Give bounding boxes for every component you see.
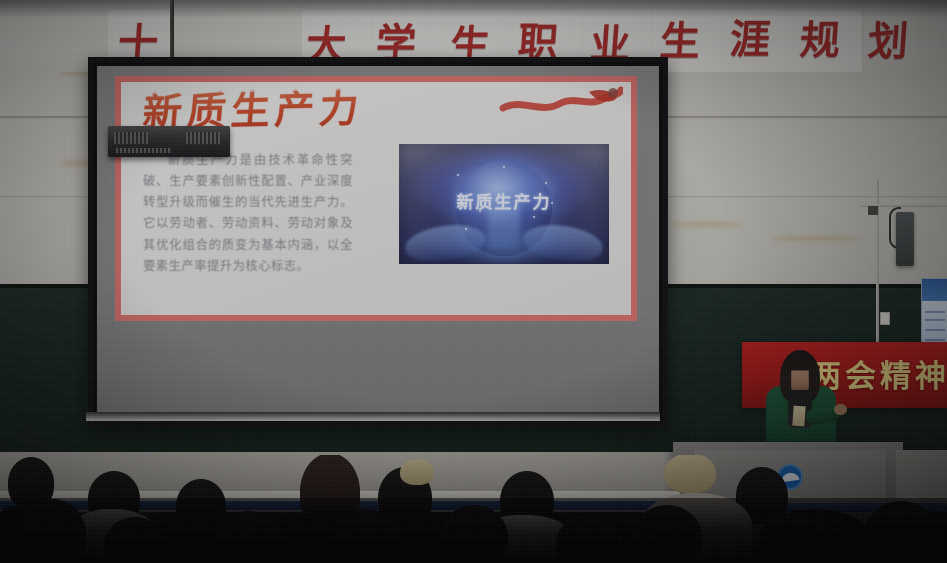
poster-text-line bbox=[925, 319, 945, 321]
banner-char: 规 bbox=[799, 21, 842, 61]
ceiling-projector bbox=[108, 126, 230, 157]
slide-image-caption: 新质生产力 bbox=[399, 188, 609, 213]
presentation-slide: 新质生产力 新质生产力是由技术革命性突破、生产要素创新性配置、产业深度转型升级而… bbox=[115, 76, 637, 321]
red-ribbon-decoration-icon bbox=[497, 86, 623, 120]
student-audience bbox=[0, 455, 947, 563]
hand-graphic bbox=[521, 221, 605, 264]
ceiling-shadow bbox=[0, 0, 947, 18]
spark-dot bbox=[457, 174, 459, 176]
banner-char: 涯 bbox=[729, 20, 772, 60]
classroom-photo-scene: 十 大 学 生 职 业 生 涯 规 划 新质生产力 bbox=[0, 0, 947, 563]
light-beam-graphic bbox=[488, 206, 520, 264]
hand-graphic bbox=[403, 221, 487, 264]
slide-embedded-image: 新质生产力 bbox=[399, 144, 609, 264]
student-head bbox=[214, 511, 284, 563]
wall-mounted-speaker bbox=[896, 212, 914, 266]
student-head bbox=[664, 455, 716, 493]
teacher-held-paper bbox=[792, 406, 805, 427]
poster-header bbox=[922, 279, 947, 301]
spark-dot bbox=[533, 216, 535, 218]
spark-dot bbox=[465, 228, 467, 230]
spark-dot bbox=[545, 182, 547, 184]
wall-outlet[interactable] bbox=[868, 206, 878, 215]
student-head bbox=[632, 505, 702, 563]
poster-text-line bbox=[925, 329, 945, 331]
screen-bottom-rail bbox=[86, 412, 660, 421]
wall-stain bbox=[672, 222, 742, 227]
student-head bbox=[400, 459, 434, 485]
student-head bbox=[20, 499, 86, 563]
student-head bbox=[104, 517, 166, 563]
spark-dot bbox=[503, 166, 505, 168]
projector-vent bbox=[114, 132, 148, 144]
projection-screen-surface: 新质生产力 新质生产力是由技术革命性突破、生产要素创新性配置、产业深度转型升级而… bbox=[97, 66, 659, 418]
poster-text-line bbox=[925, 311, 945, 313]
slide-body-text: 新质生产力是由技术革命性突破、生产要素创新性配置、产业深度转型升级而催生的当代先… bbox=[143, 150, 353, 277]
student-head bbox=[440, 505, 508, 563]
student-head bbox=[556, 515, 622, 563]
student-head bbox=[864, 501, 938, 563]
presenting-teacher bbox=[762, 344, 840, 456]
slide-content: 新质生产力 新质生产力是由技术革命性突破、生产要素创新性配置、产业深度转型升级而… bbox=[121, 82, 631, 315]
projection-screen: 新质生产力 新质生产力是由技术革命性突破、生产要素创新性配置、产业深度转型升级而… bbox=[88, 57, 668, 427]
wall-stain bbox=[772, 236, 858, 241]
poster-text-line bbox=[925, 339, 945, 341]
projector-indicator-strip bbox=[116, 148, 172, 153]
banner-char: 划 bbox=[867, 22, 910, 62]
teacher-hand bbox=[834, 404, 847, 415]
banner-char: 生 bbox=[659, 22, 702, 62]
projector-vent bbox=[186, 132, 220, 144]
light-switch[interactable] bbox=[880, 312, 890, 325]
